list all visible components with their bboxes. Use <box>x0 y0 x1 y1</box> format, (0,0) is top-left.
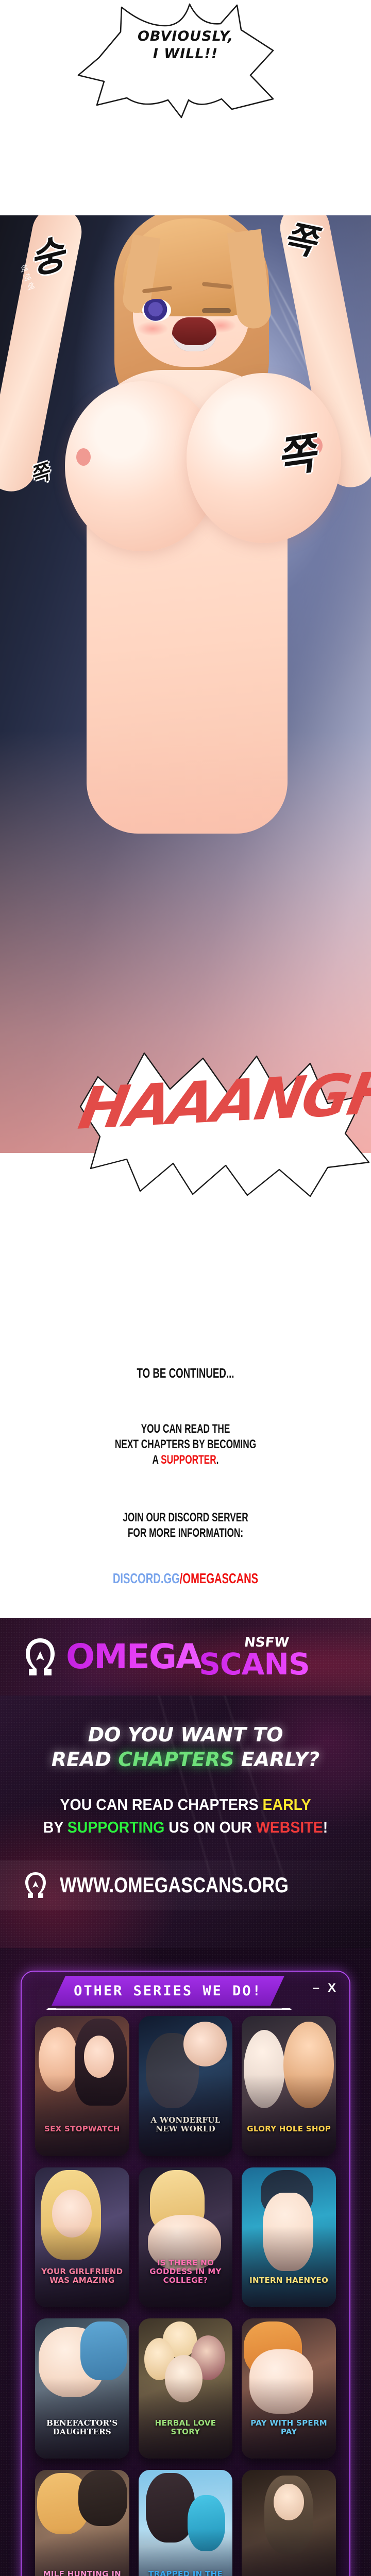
supporter-line-1: YOU CAN READ THE <box>52 1421 319 1437</box>
bubble-line-2: I WILL!! <box>67 45 304 63</box>
shout-text: HAAANGH <box>75 1065 371 1138</box>
omega-logo-icon <box>23 1870 48 1900</box>
promo-sub-supporting: SUPPORTING <box>68 1818 165 1836</box>
series-title: A WONDERFUL NEW WORLD <box>143 2116 229 2133</box>
series-card[interactable]: IS THERE NO GODDESS IN MY COLLEGE? <box>139 2167 233 2308</box>
promo-sub-early: EARLY <box>262 1795 311 1814</box>
discord-link[interactable]: DISCORD.GG/OMEGASCANS <box>52 1571 319 1586</box>
series-card[interactable]: PAY WITH SPERM PAY <box>242 2318 336 2459</box>
comic-artwork: 숭 쪽 쪽 쪽 헥헥헥 <box>0 215 371 1153</box>
promo-sub-line-1: YOU CAN READ CHAPTERS EARLY <box>15 1793 356 1816</box>
series-title: IS THERE NO GODDESS IN MY COLLEGE? <box>143 2259 229 2285</box>
supporter-line-2: NEXT CHAPTERS BY BECOMING <box>52 1437 319 1452</box>
series-card[interactable]: MOBY DICK <box>242 2470 336 2576</box>
speech-bubble-text: OBVIOUSLY, I WILL!! <box>67 28 304 63</box>
cover-fade <box>35 2075 129 2156</box>
supporter-suffix: . <box>216 1453 219 1467</box>
character-detail <box>76 448 91 466</box>
chapter-end-notes: TO BE CONTINUED... YOU CAN READ THE NEXT… <box>0 1360 371 1618</box>
promo-headline-early: EARLY? <box>234 1748 320 1771</box>
series-card[interactable]: INTERN HAENYEO <box>242 2167 336 2308</box>
other-series-section: OTHER SERIES WE DO! – X SEX STOPWATCH <box>0 1948 371 2576</box>
minimize-icon[interactable]: – <box>313 1981 319 1995</box>
character-bust-right <box>187 373 341 543</box>
speech-bubble: OBVIOUSLY, I WILL!! <box>67 3 304 122</box>
other-series-window: OTHER SERIES WE DO! – X SEX STOPWATCH <box>21 1971 350 2576</box>
omega-wordmark: OMEGA <box>66 1640 201 1674</box>
discord-link-row[interactable]: DISCORD.GG/OMEGASCANS <box>0 1571 371 1618</box>
series-card[interactable]: MILF HUNTING IN ANOTHER WORLD <box>35 2470 129 2576</box>
cover-fade <box>242 2075 336 2156</box>
promo-headline-line-1: DO YOU WANT TO <box>0 1722 371 1747</box>
series-card[interactable]: A WONDERFUL NEW WORLD <box>139 2016 233 2156</box>
promo-banner: DO YOU WANT TO READ CHAPTERS EARLY? YOU … <box>0 1696 371 1948</box>
promo-sub-website: WEBSITE <box>256 1818 323 1836</box>
supporter-line-3: A SUPPORTER. <box>52 1452 319 1468</box>
series-card[interactable]: TRAPPED IN THE ACADEMY'S EROGE <box>139 2470 233 2576</box>
website-url-bar[interactable]: WWW.OMEGASCANS.ORG <box>0 1860 371 1910</box>
bubble-line-1: OBVIOUSLY, <box>67 28 304 45</box>
series-title: PAY WITH SPERM PAY <box>246 2419 332 2436</box>
series-grid: SEX STOPWATCH A WONDERFUL NEW WORLD GLOR… <box>22 2011 349 2576</box>
promo-sub-2a: BY <box>43 1818 68 1836</box>
promo-headline-read: READ <box>52 1748 118 1771</box>
promo-sub-2c: US ON OUR <box>164 1818 256 1836</box>
series-title: BENEFACTOR'S DAUGHTERS <box>39 2419 125 2436</box>
promo-headline-chapters: CHAPTERS <box>118 1748 234 1771</box>
series-title: INTERN HAENYEO <box>246 2276 332 2285</box>
series-card[interactable]: HERBAL LOVE STORY <box>139 2318 233 2459</box>
series-title: SEX STOPWATCH <box>39 2125 125 2133</box>
shout-bubble: HAAANGH <box>77 1046 371 1200</box>
cover-figure <box>183 2022 227 2066</box>
series-card[interactable]: BENEFACTOR'S DAUGHTERS <box>35 2318 129 2459</box>
cover-figure <box>274 2484 303 2520</box>
series-title: TRAPPED IN THE ACADEMY'S EROGE <box>143 2570 229 2576</box>
omegascans-logo-banner: OMEGA SCANS NSFW <box>0 1618 371 1696</box>
promo-sub-line-2: BY SUPPORTING US ON OUR WEBSITE! <box>15 1816 356 1839</box>
other-series-title: OTHER SERIES WE DO! <box>74 1983 262 1999</box>
series-card[interactable]: SEX STOPWATCH <box>35 2016 129 2156</box>
promo-headline-line-2: READ CHAPTERS EARLY? <box>0 1747 371 1772</box>
series-title: MILF HUNTING IN ANOTHER WORLD <box>39 2570 125 2576</box>
series-title: GLORY HOLE SHOP <box>246 2125 332 2133</box>
promo-headline: DO YOU WANT TO READ CHAPTERS EARLY? <box>0 1696 371 1772</box>
spacer <box>0 1468 371 1493</box>
supporter-note: YOU CAN READ THE NEXT CHAPTERS BY BECOMI… <box>0 1421 371 1468</box>
other-series-titlebar: OTHER SERIES WE DO! – X <box>22 1972 349 2011</box>
supporter-prefix: A <box>153 1453 161 1467</box>
website-url-text[interactable]: WWW.OMEGASCANS.ORG <box>60 1873 289 1897</box>
other-series-title-chip: OTHER SERIES WE DO! <box>52 1976 284 2006</box>
character-eye-closed <box>202 308 231 313</box>
nsfw-badge: NSFW <box>243 1635 290 1650</box>
character-eye-open <box>142 299 171 321</box>
omega-logo-icon <box>22 1636 59 1678</box>
series-title: HERBAL LOVE STORY <box>143 2419 229 2436</box>
character-blush-left <box>137 321 168 336</box>
discord-line-1: JOIN OUR DISCORD SERVER <box>52 1510 319 1526</box>
to-be-continued-text: TO BE CONTINUED... <box>52 1365 319 1381</box>
character-mouth <box>172 317 216 351</box>
promo-sub-1a: YOU CAN READ CHAPTERS <box>60 1795 262 1814</box>
supporter-accent: SUPPORTER <box>161 1453 216 1467</box>
discord-link-host[interactable]: DISCORD.GG <box>113 1570 180 1586</box>
other-series-window-controls[interactable]: – X <box>313 1981 336 1995</box>
discord-link-path[interactable]: /OMEGASCANS <box>180 1570 258 1586</box>
discord-note: JOIN OUR DISCORD SERVER FOR MORE INFORMA… <box>0 1510 371 1541</box>
series-card[interactable]: YOUR GIRLFRIEND WAS AMAZING <box>35 2167 129 2308</box>
close-icon[interactable]: X <box>328 1981 336 1995</box>
cover-figure <box>84 2036 114 2078</box>
discord-line-2: FOR MORE INFORMATION: <box>52 1526 319 1541</box>
series-card[interactable]: GLORY HOLE SHOP <box>242 2016 336 2156</box>
promo-subtext: YOU CAN READ CHAPTERS EARLY BY SUPPORTIN… <box>15 1793 356 1839</box>
cover-figure <box>80 2321 127 2380</box>
promo-sub-2e: ! <box>323 1818 328 1836</box>
cover-fade <box>242 2226 336 2308</box>
cover-fade <box>242 2529 336 2576</box>
series-title: YOUR GIRLFRIEND WAS AMAZING <box>39 2267 125 2285</box>
scans-wordmark: SCANS <box>199 1649 310 1679</box>
comic-panel: OBVIOUSLY, I WILL!! 숭 쪽 쪽 쪽 헥헥 <box>0 0 371 1360</box>
cover-figure <box>78 2470 127 2526</box>
